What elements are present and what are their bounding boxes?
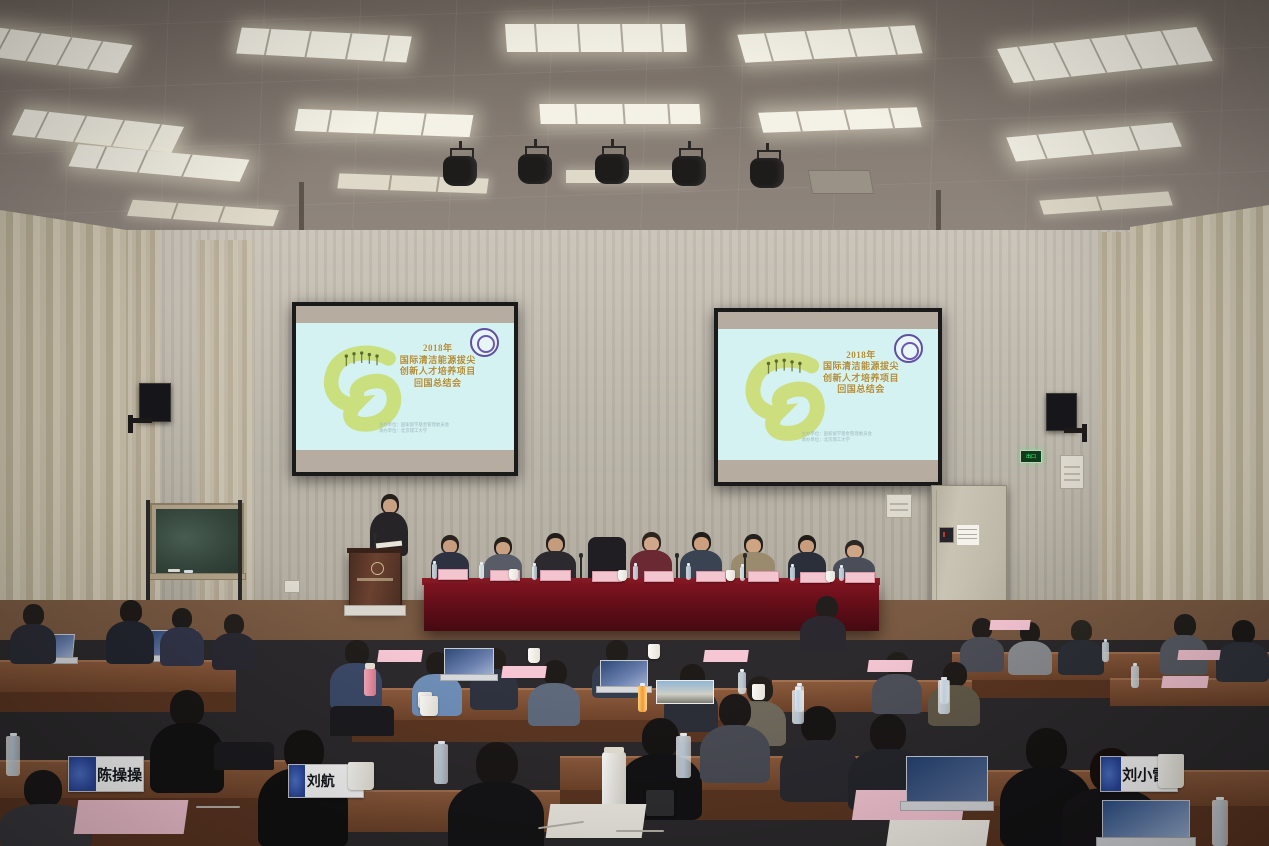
paper-cup — [509, 569, 518, 580]
audience-member — [1058, 620, 1104, 672]
head-table-placard — [845, 572, 875, 583]
conference-room-photo: 2018年 国际清洁能源拔尖 创新人才培养项目 回国总结会 主办单位：国家留学基… — [0, 0, 1269, 846]
chair-back — [214, 742, 274, 770]
pink-handout — [501, 666, 547, 678]
green-chalkboard — [150, 503, 244, 579]
water-bottle — [790, 567, 795, 581]
audience-member — [212, 614, 256, 668]
slide-subtitle-line-2: 承办单位：北京理工大学 — [379, 428, 501, 434]
right-projection-screen: 2018年 国际清洁能源拔尖 创新人才培养项目 回国总结会 主办单位：国家留学基… — [714, 308, 942, 486]
exit-sign: 出口 — [1020, 450, 1042, 463]
slide-subtitle: 主办单位：国家留学基金管理委员会 承办单位：北京理工大学 — [379, 422, 501, 434]
chalkboard-stand-leg — [146, 500, 150, 608]
cabinet-label-sheet — [956, 524, 980, 546]
audience-member — [160, 608, 204, 664]
chalk-stick — [168, 569, 180, 572]
audience-member — [700, 694, 770, 782]
audience-member — [10, 604, 56, 662]
water-bottle — [1212, 800, 1228, 846]
water-bottle — [686, 566, 691, 580]
slide-title: 2018年 国际清洁能源拔尖 创新人才培养项目 回国总结会 — [797, 350, 925, 396]
paper-cup — [420, 696, 438, 716]
slide-year-line: 2018年 — [374, 343, 500, 355]
slide-title-line-2: 国际清洁能源拔尖 — [797, 361, 925, 373]
water-bottle — [1131, 666, 1139, 688]
chalkboard-stand-leg — [238, 500, 242, 604]
table-microphone — [744, 556, 746, 578]
slide-title-line-2: 国际清洁能源拔尖 — [374, 355, 500, 367]
wall-notice-plate — [886, 494, 912, 518]
audience-member — [448, 742, 544, 846]
nameplate-badge — [1101, 757, 1121, 791]
chalk-tray — [148, 573, 246, 580]
slide-title-line-3: 创新人才培养项目 — [374, 366, 500, 378]
slide-title-line-4: 回国总结会 — [797, 384, 925, 396]
laptop — [900, 756, 990, 812]
slide-title-line-3: 创新人才培养项目 — [797, 373, 925, 385]
laptop — [440, 648, 494, 680]
water-bottle — [839, 568, 844, 581]
nameplate-badge — [69, 757, 96, 791]
slide-year-line: 2018年 — [797, 350, 925, 362]
paper-cup — [528, 648, 540, 663]
paper-cup — [826, 571, 835, 582]
water-bottle — [1102, 642, 1109, 662]
pink-handout — [867, 660, 913, 672]
water-bottle — [792, 690, 804, 724]
chalk-stick — [184, 570, 193, 573]
thermos — [364, 668, 376, 696]
water-bottle — [633, 566, 638, 580]
water-bottle — [938, 680, 950, 714]
podium — [349, 552, 401, 610]
head-table-placard — [540, 570, 571, 581]
stage-spotlight — [672, 148, 706, 192]
nameplate-text: 陈操操 — [97, 764, 142, 785]
water-bottle — [479, 565, 484, 579]
left-wall-speaker — [139, 383, 171, 422]
slide-subtitle-line-2: 承办单位：北京理工大学 — [802, 437, 925, 443]
wall-marble-column — [196, 240, 254, 640]
nameplate-front-left: 陈操操 — [68, 756, 144, 792]
slide-title-line-4: 回国总结会 — [374, 378, 500, 390]
university-crest-emblem — [371, 562, 384, 575]
pink-handout — [377, 650, 423, 662]
speaker-bracket — [128, 415, 133, 433]
nameplate-text: 刘航 — [307, 771, 335, 791]
head-table-placard — [644, 571, 674, 582]
stage-spotlight — [518, 146, 552, 190]
white-handout — [886, 820, 990, 846]
slide-title: 2018年 国际清洁能源拔尖 创新人才培养项目 回国总结会 — [374, 343, 500, 389]
water-bottle — [432, 564, 437, 579]
left-projection-screen: 2018年 国际清洁能源拔尖 创新人才培养项目 回国总结会 主办单位：国家留学基… — [292, 302, 518, 476]
slide-subtitle: 主办单位：国家留学基金管理委员会 承办单位：北京理工大学 — [802, 431, 925, 443]
wall-control-panel — [1060, 455, 1084, 489]
audience-member — [150, 690, 224, 792]
pink-handout — [703, 650, 749, 662]
wall-outlet — [284, 580, 300, 593]
chair-back — [330, 706, 394, 736]
water-bottle — [738, 672, 746, 694]
pen — [616, 830, 664, 832]
head-table-placard — [696, 571, 726, 582]
pink-handout — [1161, 676, 1209, 688]
white-handout — [546, 804, 647, 838]
paper-cup — [348, 762, 374, 790]
table-microphone — [676, 556, 678, 578]
podium-base — [344, 605, 406, 616]
head-table-placard — [438, 569, 468, 580]
speaker-bracket — [130, 418, 152, 423]
water-bottle — [6, 736, 20, 776]
ceiling-light — [505, 24, 687, 52]
cabinet-control-panel — [939, 527, 954, 544]
speaker-bracket — [1082, 424, 1087, 442]
paper-cup — [648, 644, 660, 659]
water-bottle — [676, 736, 691, 778]
ceiling-air-vent — [808, 170, 874, 194]
water-bottle — [532, 566, 537, 580]
head-table-placard — [748, 571, 779, 582]
nameplate-badge — [289, 765, 305, 797]
pink-handout — [1177, 650, 1220, 660]
staff-member — [800, 596, 846, 650]
table-microphone — [580, 556, 582, 578]
mug — [646, 790, 674, 816]
water-bottle — [434, 744, 448, 784]
audience-member — [1216, 620, 1269, 678]
pen — [196, 806, 240, 808]
paper-cup — [726, 570, 735, 581]
juice-bottle — [638, 686, 647, 712]
stage-spotlight — [750, 150, 784, 194]
stage-spotlight — [443, 148, 477, 192]
audience-member — [928, 662, 980, 724]
stage-spotlight — [595, 146, 629, 191]
audience-member — [106, 600, 154, 662]
pink-handout — [74, 800, 189, 834]
right-wall-speaker — [1046, 393, 1077, 431]
laptop — [1096, 800, 1192, 846]
pink-handout — [989, 620, 1030, 630]
audience-member — [1160, 614, 1208, 672]
paper-cup — [618, 570, 627, 581]
ceiling-light — [539, 104, 700, 124]
paper-cup — [1158, 754, 1184, 788]
